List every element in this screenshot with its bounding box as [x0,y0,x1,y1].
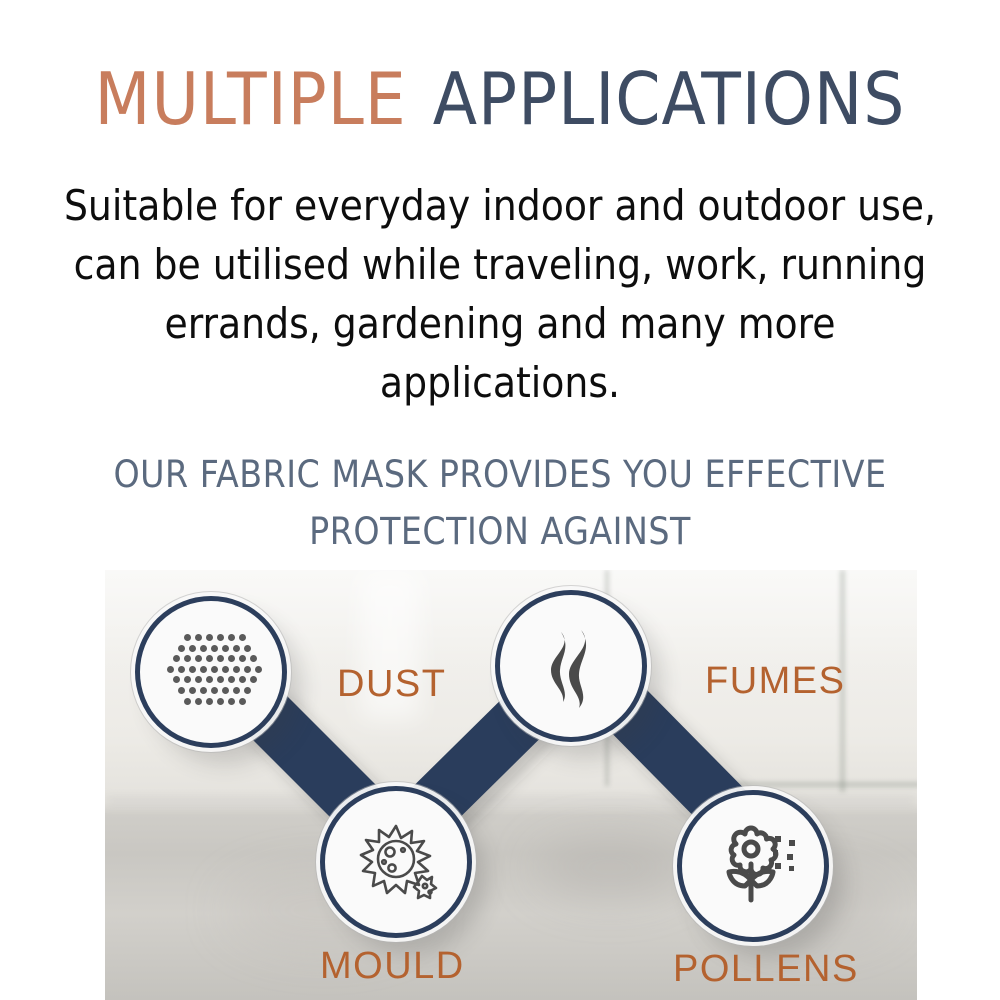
dust-dot [178,687,185,694]
node-mould[interactable] [320,786,472,938]
flower-pollen-icon [703,816,803,916]
title-word-multiple: MULTIPLE [95,57,407,141]
dust-dot [233,666,240,673]
dust-dot [173,655,180,662]
dust-dot [228,698,235,705]
dust-dot [211,645,218,652]
dust-dot [189,687,196,694]
dust-dot [189,645,196,652]
dust-dot [217,676,224,683]
smoke-waves-icon [521,616,621,716]
dust-dot [200,687,207,694]
node-dust-disc[interactable] [135,596,287,748]
dust-dot [184,698,191,705]
dust-dot [184,634,191,641]
label-dust: DUST [337,663,446,706]
dust-dot [222,687,229,694]
dust-dot [222,645,229,652]
dust-dot [206,676,213,683]
dust-dot [206,655,213,662]
dust-dot [239,655,246,662]
dust-dot [222,666,229,673]
dust-dot [217,698,224,705]
label-pollens: POLLENS [673,948,859,991]
title-word-applications: APPLICATIONS [433,57,906,141]
microbe-spore-icon [346,812,446,912]
subheading: OUR FABRIC MASK PROVIDES YOU EFFECTIVE P… [40,446,960,560]
dust-dot [233,645,240,652]
lead-paragraph: Suitable for everyday indoor and outdoor… [50,176,950,412]
node-dust[interactable] [135,596,287,748]
dust-dot [167,666,174,673]
dust-dot [173,676,180,683]
dust-dot [195,676,202,683]
dust-dot [178,645,185,652]
node-fumes-disc[interactable] [495,590,647,742]
pollen-particles [773,836,795,871]
dust-dot [239,676,246,683]
dust-dot [178,666,185,673]
dust-dot [189,666,196,673]
dust-dot [244,666,251,673]
label-mould: MOULD [320,945,465,988]
dust-dot [195,698,202,705]
dust-dot [195,655,202,662]
node-mould-disc[interactable] [320,786,472,938]
dust-dot [211,687,218,694]
dust-dot [200,645,207,652]
dust-dot [228,655,235,662]
dust-dot [206,634,213,641]
dust-dots-icon [161,622,261,722]
dust-dot [184,655,191,662]
dust-dot [206,698,213,705]
dust-dot [239,634,246,641]
dust-dot [233,687,240,694]
node-pollens[interactable] [677,790,829,942]
dust-dot [244,687,251,694]
dust-dot [244,645,251,652]
dust-dot [239,698,246,705]
dust-dot [250,676,257,683]
dust-dot [250,655,257,662]
label-fumes: FUMES [705,660,846,703]
node-pollens-disc[interactable] [677,790,829,942]
dust-dot [217,634,224,641]
dust-dot [255,666,262,673]
poster-page: MULTIPLEAPPLICATIONS Suitable for everyd… [0,0,1000,1000]
dust-dot [184,676,191,683]
dust-dot [228,634,235,641]
node-fumes[interactable] [495,590,647,742]
dust-dot [195,634,202,641]
page-title: MULTIPLEAPPLICATIONS [0,56,1000,142]
diagram-photo-panel: DUST FUMES MOULD POLLENS [105,570,917,1000]
dust-dot [228,676,235,683]
dust-dot [217,655,224,662]
dust-dot [211,666,218,673]
dust-dot [200,666,207,673]
